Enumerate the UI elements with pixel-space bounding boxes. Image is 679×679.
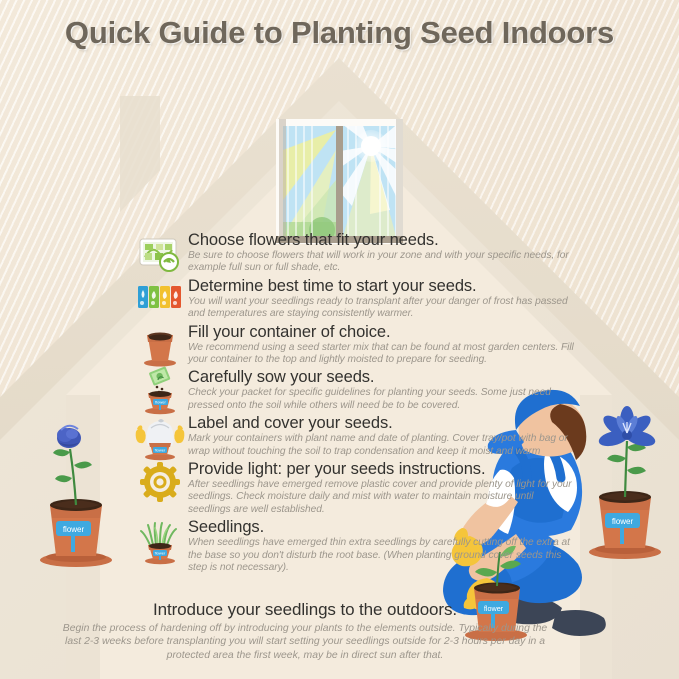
step-list: Choose flowers that fit your needs. Be s… <box>136 231 576 577</box>
step-body: Mark your containers with plant name and… <box>188 433 576 458</box>
footer-heading: Introduce your seedlings to the outdoors… <box>60 600 550 620</box>
svg-text:flower: flower <box>155 400 166 405</box>
svg-text:flower: flower <box>155 448 166 453</box>
step-body: After seedlings have emerged remove plas… <box>188 479 576 516</box>
step-item-5: flower Label and cover your seeds. Mark … <box>136 414 576 458</box>
step-item-6: Provide light: per your seeds instructio… <box>136 460 576 516</box>
step-heading: Label and cover your seeds. <box>188 414 576 433</box>
svg-text:flower: flower <box>155 551 166 556</box>
step-heading: Determine best time to start your seeds. <box>188 277 576 296</box>
four-seasons-calendar-icon <box>136 277 184 325</box>
step-body: When seedlings have emerged thin extra s… <box>188 537 576 574</box>
empty-pot-icon <box>136 323 184 371</box>
footer-body: Begin the process of hardening off by in… <box>60 622 550 662</box>
step-item-2: Determine best time to start your seeds.… <box>136 277 576 321</box>
outdoor-intro-section: Introduce your seedlings to the outdoors… <box>60 600 550 662</box>
zone-map-icon <box>136 231 184 279</box>
step-body: You will want your seedlings ready to tr… <box>188 296 576 321</box>
step-item-4: flower Carefully sow your seeds. Check y… <box>136 368 576 412</box>
step-body: Be sure to choose flowers that will work… <box>188 250 576 275</box>
covered-pot-gloves-icon: flower <box>136 414 184 462</box>
step-heading: Carefully sow your seeds. <box>188 368 576 387</box>
step-heading: Provide light: per your seeds instructio… <box>188 460 576 479</box>
step-body: We recommend using a seed starter mix th… <box>188 342 576 367</box>
step-item-3: Fill your container of choice. We recomm… <box>136 323 576 367</box>
sprouting-seedlings-pot-icon: flower <box>136 518 184 566</box>
step-heading: Choose flowers that fit your needs. <box>188 231 576 250</box>
step-heading: Seedlings. <box>188 518 576 537</box>
step-body: Check your packet for specific guideline… <box>188 387 576 412</box>
step-heading: Fill your container of choice. <box>188 323 576 342</box>
step-item-1: Choose flowers that fit your needs. Be s… <box>136 231 576 275</box>
step-item-7: flower Seedlings. When seedlings have em… <box>136 518 576 574</box>
sun-light-icon <box>136 460 184 508</box>
infographic-poster: flower <box>0 0 679 679</box>
page-title: Quick Guide to Planting Seed Indoors <box>0 15 679 51</box>
seed-packet-pot-icon: flower <box>136 368 184 416</box>
